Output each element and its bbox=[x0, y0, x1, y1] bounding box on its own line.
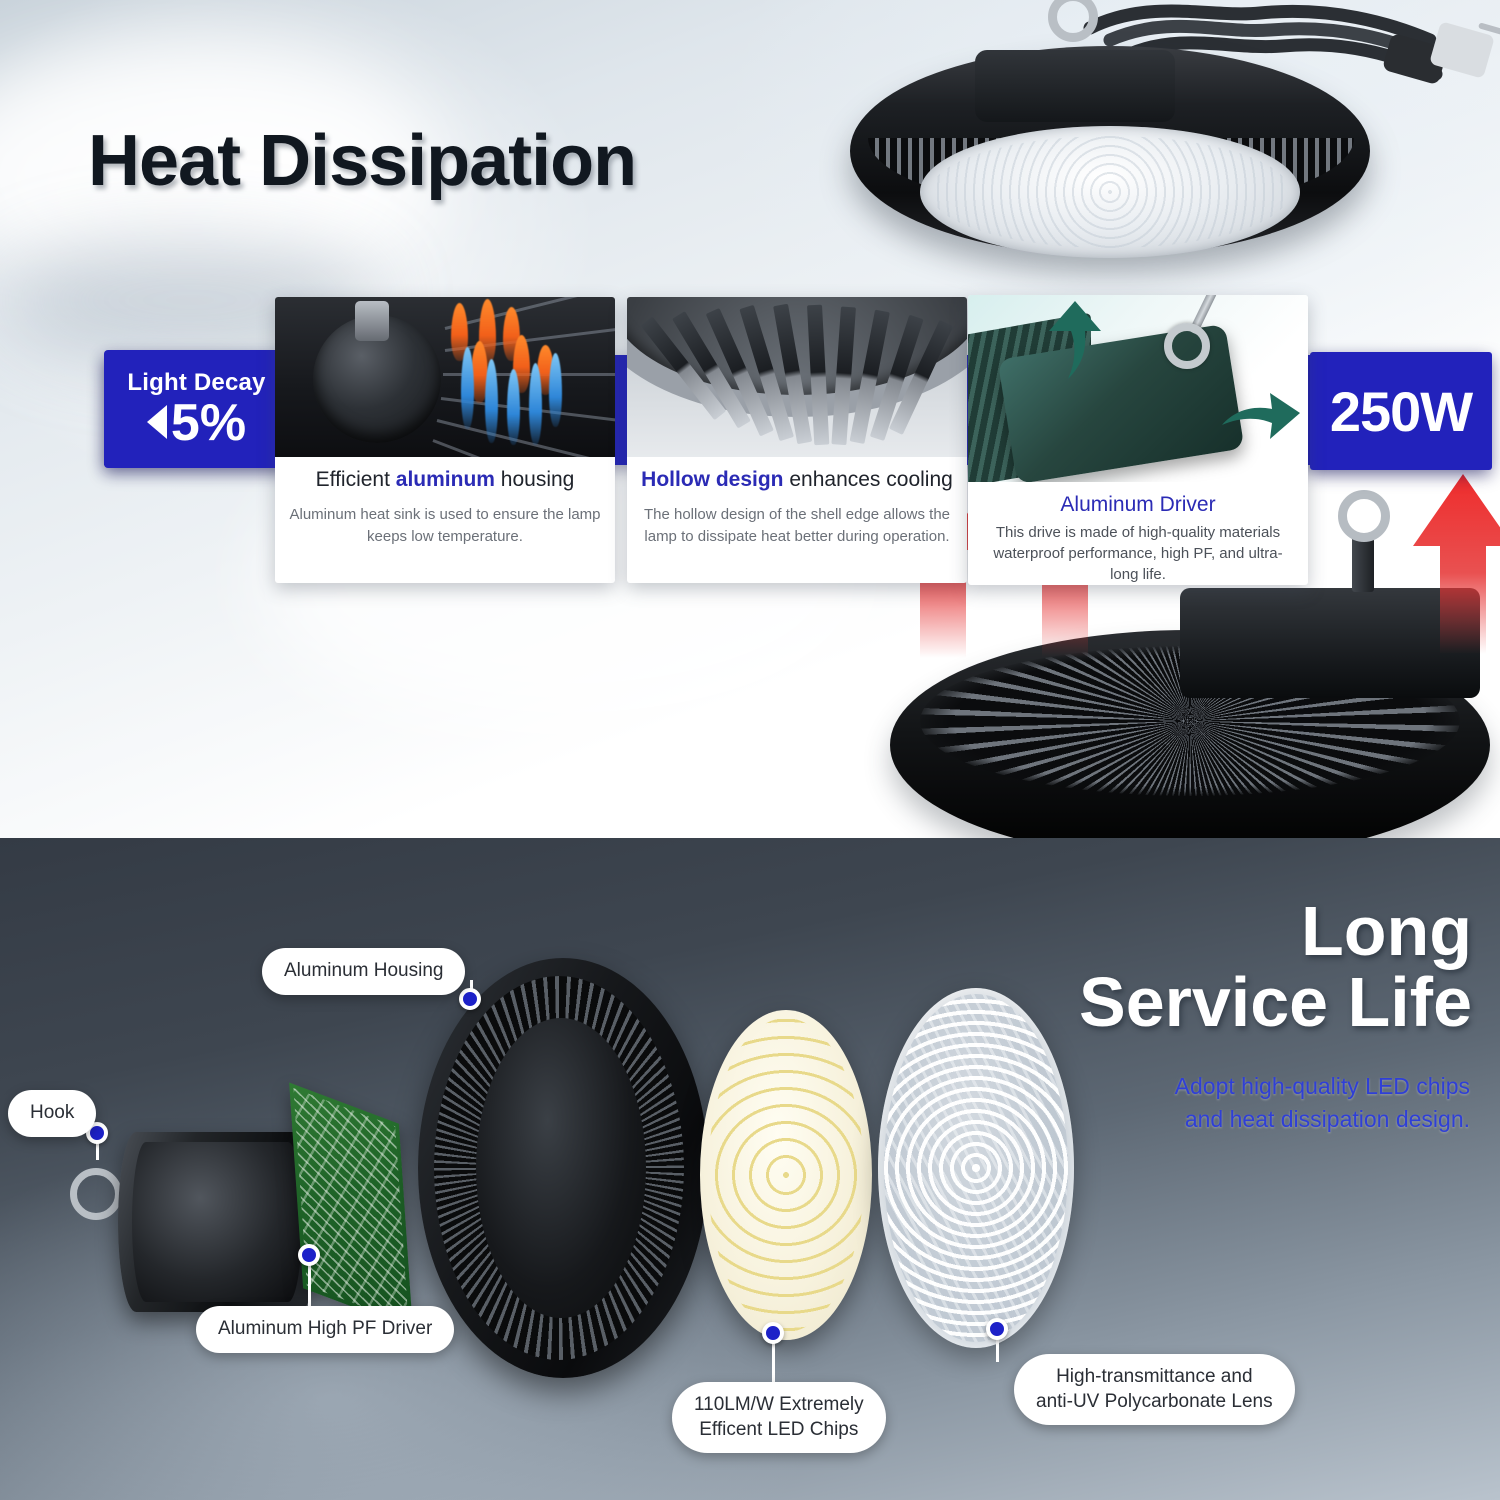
hook-ring-icon bbox=[1338, 490, 1390, 542]
callout-hook[interactable]: Hook bbox=[8, 1090, 96, 1137]
section-subtitle-line2: and heat dissipation design. bbox=[1185, 1106, 1470, 1132]
callout-aluminum-housing[interactable]: Aluminum Housing bbox=[262, 948, 465, 995]
callout-led-chips[interactable]: 110LM/W Extremely Efficent LED Chips bbox=[672, 1382, 886, 1453]
light-decay-label: Light Decay bbox=[127, 369, 265, 397]
card-image-hollow-fins bbox=[627, 297, 967, 457]
card-body: Aluminum Driver This drive is made of hi… bbox=[968, 482, 1308, 585]
card-image-heatsink-airflow bbox=[275, 297, 615, 457]
page-title: Heat Dissipation bbox=[88, 120, 636, 202]
card-image-aluminum-driver bbox=[968, 295, 1308, 482]
section-title: Long Service Life bbox=[1079, 896, 1472, 1039]
airflow-icon bbox=[549, 353, 562, 427]
less-than-chevron-icon bbox=[147, 405, 167, 439]
feature-card-hollow-design: Hollow design enhances cooling The hollo… bbox=[627, 297, 967, 583]
heat-arrow-icon-3 bbox=[1408, 474, 1500, 654]
callout-aluminum-high-pf-driver[interactable]: Aluminum High PF Driver bbox=[196, 1306, 454, 1353]
wattage-badge: 250W bbox=[1310, 352, 1492, 470]
airflow-icon bbox=[461, 347, 474, 429]
hook-shaft bbox=[1352, 536, 1374, 592]
airflow-icon bbox=[485, 359, 498, 443]
airflow-arrow-icon-up bbox=[1046, 301, 1104, 379]
heat-dissipation-panel: Heat Dissipation Light Decay 5% 250W bbox=[0, 0, 1500, 838]
card-title: Hollow design enhances cooling bbox=[641, 467, 953, 492]
callout-polycarbonate-lens[interactable]: High-transmittance and anti-UV Polycarbo… bbox=[1014, 1354, 1295, 1425]
heatsink-illustration bbox=[275, 297, 615, 457]
card-title: Aluminum Driver bbox=[982, 492, 1294, 517]
driver-illustration bbox=[968, 295, 1308, 482]
airflow-icon bbox=[507, 369, 520, 445]
driver-housing-part bbox=[118, 1132, 318, 1312]
polycarbonate-lens-part bbox=[878, 988, 1074, 1348]
callout-dot-led-chips bbox=[762, 1322, 784, 1344]
fin bbox=[445, 328, 615, 352]
card-title: Efficient aluminum housing bbox=[289, 467, 601, 492]
fin bbox=[445, 297, 611, 330]
airflow-icon bbox=[529, 363, 542, 445]
section-subtitle-line1: Adopt high-quality LED chips bbox=[1175, 1073, 1470, 1099]
feature-card-aluminum-housing: Efficient aluminum housing Aluminum heat… bbox=[275, 297, 615, 583]
lamp-lens bbox=[920, 126, 1300, 258]
light-decay-badge: Light Decay 5% bbox=[104, 350, 289, 468]
feature-card-aluminum-driver: Aluminum Driver This drive is made of hi… bbox=[968, 295, 1308, 585]
card-description: This drive is made of high-quality mater… bbox=[982, 522, 1294, 585]
callout-dot-aluminum-housing bbox=[459, 988, 481, 1010]
card-body: Efficient aluminum housing Aluminum heat… bbox=[275, 457, 615, 583]
section-title-line2: Service Life bbox=[1079, 963, 1472, 1041]
led-chip-board-part bbox=[700, 1010, 872, 1340]
callout-dot-lens bbox=[986, 1318, 1008, 1340]
card-description: Aluminum heat sink is used to ensure the… bbox=[289, 504, 601, 548]
ufo-high-bay-light-photo bbox=[790, 0, 1500, 308]
aluminum-housing-part bbox=[418, 958, 708, 1378]
section-subtitle: Adopt high-quality LED chips and heat di… bbox=[1175, 1070, 1470, 1137]
callout-dot-driver bbox=[298, 1244, 320, 1266]
lamp-top-cap bbox=[975, 50, 1175, 122]
light-decay-value: 5% bbox=[147, 399, 246, 448]
section-title-line1: Long bbox=[1301, 892, 1472, 970]
hollow-fin-illustration bbox=[627, 297, 967, 457]
hook-wire-icon bbox=[70, 1168, 122, 1220]
card-body: Hollow design enhances cooling The hollo… bbox=[627, 457, 967, 583]
card-description: The hollow design of the shell edge allo… bbox=[641, 504, 953, 548]
airflow-arrow-icon-right bbox=[1222, 393, 1300, 445]
hook-ring-icon bbox=[1164, 323, 1210, 369]
heatsink-hub bbox=[313, 315, 441, 443]
